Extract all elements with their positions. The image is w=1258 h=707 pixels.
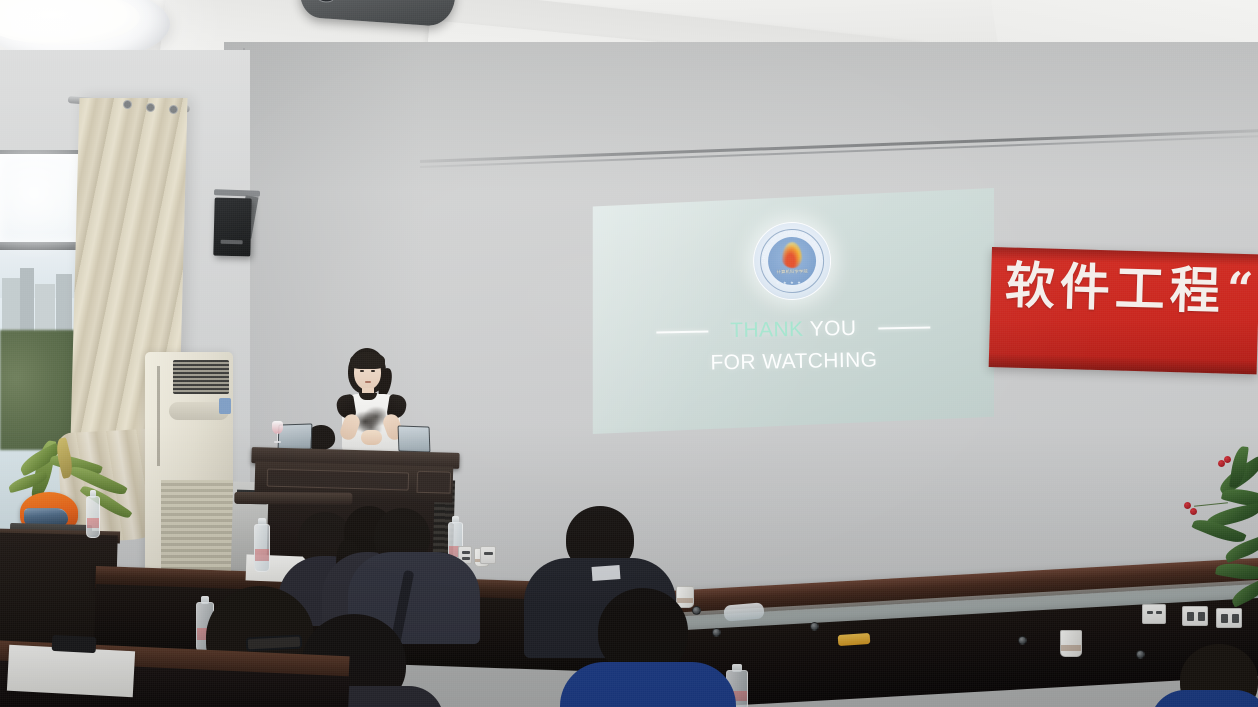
drinking-glass — [272, 421, 283, 445]
wall-outlet[interactable] — [1142, 604, 1166, 624]
outlet-slot — [462, 557, 470, 560]
cup-band — [1061, 645, 1081, 651]
phone[interactable] — [52, 635, 97, 653]
building — [56, 274, 72, 338]
curtain-grommet — [146, 103, 155, 112]
water-bottle — [254, 518, 270, 572]
rule-left — [656, 330, 708, 333]
building — [2, 278, 20, 336]
glass-base — [274, 441, 281, 443]
stem — [1194, 502, 1228, 507]
banner-quote-mark: “ — [1226, 262, 1254, 317]
outlet-slot — [1147, 611, 1153, 614]
ac-badge — [219, 398, 231, 414]
desk-grommet — [1136, 650, 1145, 659]
banner-text: 软件工程 — [1004, 260, 1225, 316]
logo-arc-label: SCHOOL OF COMPUTER SCIENCE — [752, 221, 823, 263]
wall-speaker — [213, 198, 251, 257]
podium-side-shelf — [234, 492, 352, 505]
wall-outlet[interactable] — [480, 546, 496, 564]
curtain-grommet — [123, 100, 132, 109]
presenter-shirt-print — [356, 406, 386, 432]
outlet-slot — [484, 552, 493, 555]
curtain-grommet — [169, 105, 178, 114]
desk-grommet — [712, 628, 721, 637]
bottle-body — [86, 496, 100, 538]
person-right-body — [1150, 690, 1258, 707]
ac-grille — [173, 360, 229, 394]
berry — [1184, 502, 1191, 509]
berry — [1190, 508, 1197, 515]
outlet-slot — [1156, 611, 1162, 614]
eyeglasses-icon — [246, 635, 303, 652]
presenter-fringe — [350, 352, 385, 369]
podium-inset-left — [267, 469, 409, 491]
desk-grommet — [692, 606, 701, 615]
headline-you: YOU — [809, 317, 856, 341]
shirt-collar — [592, 565, 621, 581]
red-banner: 软件工程 “ — [989, 247, 1258, 374]
ac-lower-vents — [161, 480, 233, 580]
headline-secondary: FOR WATCHING — [593, 346, 995, 377]
plant-right — [1176, 446, 1258, 666]
wall-shading-top — [224, 42, 1258, 192]
desk-grommet — [810, 622, 819, 631]
headline-thank: THANK — [730, 318, 804, 342]
rule-right — [878, 326, 930, 329]
outlet-slot — [462, 551, 470, 554]
presenter-eye-left — [360, 370, 364, 372]
bottle-label — [255, 549, 269, 561]
leaf — [1229, 578, 1258, 607]
logo-arc-text: SCHOOL OF COMPUTER SCIENCE — [752, 221, 831, 300]
trees — [0, 330, 78, 450]
laptop-right[interactable] — [398, 425, 431, 452]
headline-row: THANK YOU — [592, 314, 994, 345]
projector-lens-icon — [317, 0, 334, 3]
air-conditioner[interactable] — [145, 352, 233, 584]
ceiling-light-lens — [0, 0, 140, 45]
headline-primary: THANK YOU — [730, 317, 857, 343]
ac-seam — [157, 366, 160, 466]
projection-screen: 计算机科学学院 ★ ★ ★ ★ ★ SCHOOL OF COMPUTER SCI… — [592, 188, 994, 434]
cup-band — [677, 598, 693, 602]
paper-sheet-front — [7, 645, 135, 698]
berry — [1224, 456, 1231, 463]
leaf — [1229, 445, 1249, 489]
bottle-body — [254, 524, 270, 572]
school-logo: 计算机科学学院 ★ ★ ★ ★ ★ SCHOOL OF COMPUTER SCI… — [752, 221, 831, 300]
water-bottle — [86, 490, 100, 538]
conference-room-photo: 计算机科学学院 ★ ★ ★ ★ ★ SCHOOL OF COMPUTER SCI… — [0, 0, 1258, 707]
leaf — [1215, 560, 1258, 583]
bottle-label — [87, 518, 99, 528]
snack-package — [838, 633, 871, 646]
building — [20, 268, 34, 338]
presenter-eye-right — [371, 370, 375, 372]
desk-grommet — [1018, 636, 1027, 645]
slide-content: 计算机科学学院 ★ ★ ★ ★ ★ SCHOOL OF COMPUTER SCI… — [590, 184, 996, 437]
paper-cup — [1060, 630, 1082, 657]
speaker-logo — [221, 240, 243, 245]
podium-inset-right — [417, 471, 452, 494]
presenter-hands — [361, 430, 382, 445]
person-front-center-body — [560, 662, 736, 707]
